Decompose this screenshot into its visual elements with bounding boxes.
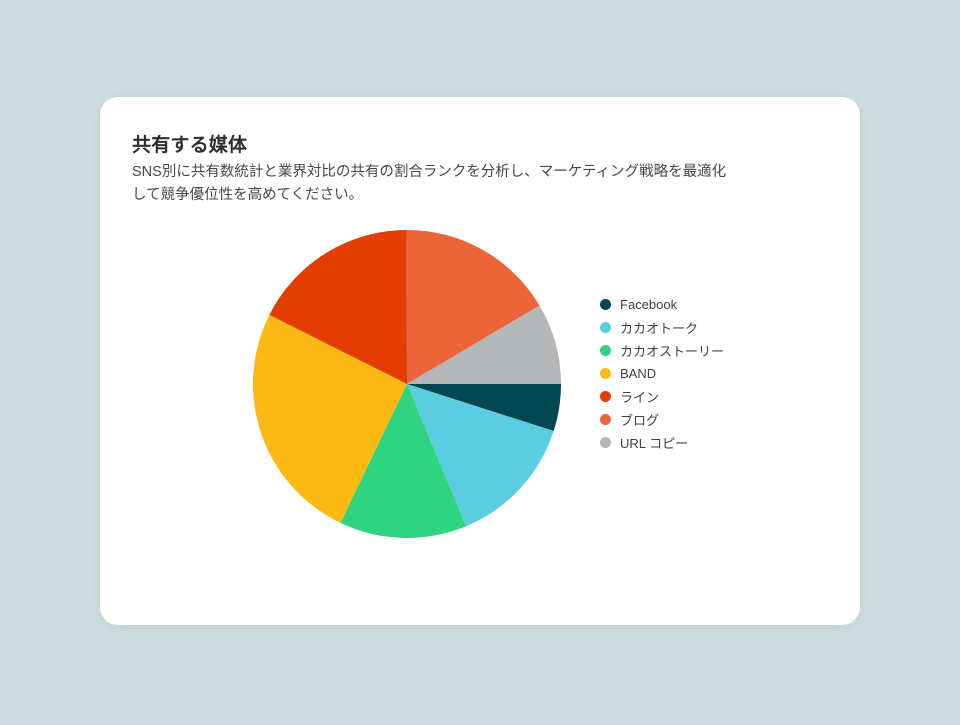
legend-item-label: ライン <box>620 387 659 406</box>
legend-color-dot-icon <box>600 391 611 402</box>
legend-item-label: URL コピー <box>620 433 688 452</box>
chart-legend: FacebookカカオトークカカオストーリーBANDラインブログURL コピー <box>600 293 724 454</box>
legend-item-label: カカオストーリー <box>620 341 724 360</box>
page-title: 共有する媒体 <box>132 130 247 157</box>
share-media-card: 共有する媒体 SNS別に共有数統計と業界対比の共有の割合ランクを分析し、マーケテ… <box>100 97 860 625</box>
legend-item-label: Facebook <box>620 297 677 312</box>
legend-item-label: ブログ <box>620 410 659 429</box>
legend-color-dot-icon <box>600 299 611 310</box>
legend-color-dot-icon <box>600 414 611 425</box>
legend-color-dot-icon <box>600 322 611 333</box>
legend-item[interactable]: BAND <box>600 362 724 385</box>
legend-item[interactable]: カカオストーリー <box>600 339 724 362</box>
legend-item[interactable]: カカオトーク <box>600 316 724 339</box>
legend-item[interactable]: Facebook <box>600 293 724 316</box>
chart-area: FacebookカカオトークカカオストーリーBANDラインブログURL コピー <box>100 217 860 617</box>
legend-color-dot-icon <box>600 345 611 356</box>
card-description: SNS別に共有数統計と業界対比の共有の割合ランクを分析し、マーケティング戦略を最… <box>132 161 732 208</box>
legend-color-dot-icon <box>600 368 611 379</box>
legend-color-dot-icon <box>600 437 611 448</box>
legend-item[interactable]: URL コピー <box>600 431 724 454</box>
legend-item-label: カカオトーク <box>620 318 698 337</box>
legend-item-label: BAND <box>620 366 656 381</box>
legend-item[interactable]: ライン <box>600 385 724 408</box>
pie-chart[interactable] <box>253 230 561 538</box>
screen: 共有する媒体 SNS別に共有数統計と業界対比の共有の割合ランクを分析し、マーケテ… <box>0 0 960 725</box>
legend-item[interactable]: ブログ <box>600 408 724 431</box>
pie-chart-svg[interactable] <box>253 230 561 538</box>
